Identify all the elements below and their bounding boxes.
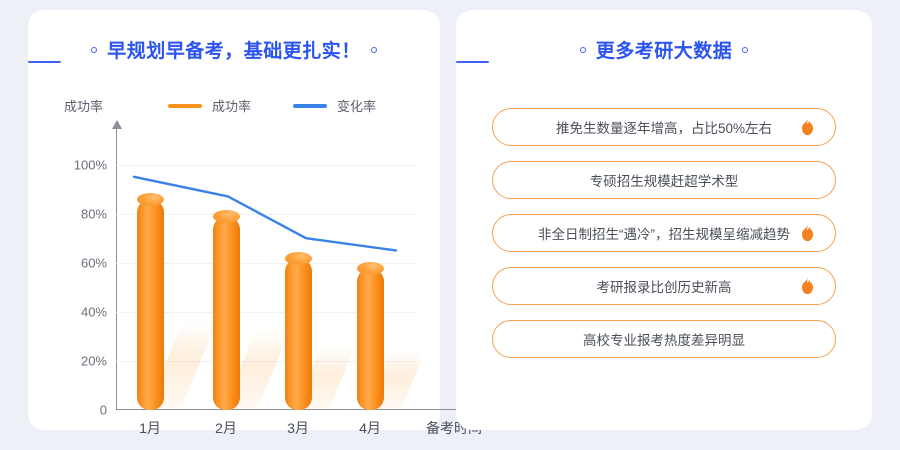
heading-decoration-left-icon bbox=[91, 47, 97, 53]
y-axis-tick-label: 40% bbox=[81, 304, 107, 319]
orange-line-swatch-icon bbox=[168, 104, 202, 108]
x-axis-tick-label: 1月 bbox=[139, 418, 161, 438]
flame-icon bbox=[800, 224, 815, 242]
preparation-success-chart: 100%80%60%40%20%01月2月3月4月备考时间 bbox=[56, 130, 440, 430]
y-axis-tick-label: 100% bbox=[74, 157, 107, 172]
legend-item-success-rate: 成功率 bbox=[168, 96, 251, 115]
list-item-label: 高校专业报考热度差异明显 bbox=[583, 329, 745, 349]
change-rate-line bbox=[116, 140, 420, 410]
gridline bbox=[116, 410, 416, 411]
legend-label-change-rate: 变化率 bbox=[337, 96, 376, 115]
list-item[interactable]: 推免生数量逐年增高，占比50%左右 bbox=[492, 108, 836, 146]
list-item-label: 推免生数量逐年增高，占比50%左右 bbox=[556, 117, 772, 137]
list-item-label: 非全日制招生“遇冷”，招生规模呈缩减趋势 bbox=[538, 223, 790, 243]
y-axis-tick-label: 80% bbox=[81, 206, 107, 221]
data-highlight-list: 推免生数量逐年增高，占比50%左右专硕招生规模赶超学术型非全日制招生“遇冷”，招… bbox=[492, 108, 836, 358]
legend-item-change-rate: 变化率 bbox=[293, 96, 376, 115]
list-item[interactable]: 专硕招生规模赶超学术型 bbox=[492, 161, 836, 199]
y-axis-tick-label: 20% bbox=[81, 353, 107, 368]
chart-panel: 早规划早备考，基础更扎实！ 成功率 成功率 变化率 100%80%60%40%2… bbox=[28, 10, 440, 430]
y-axis-title: 成功率 bbox=[64, 96, 103, 115]
chart-panel-title: 早规划早备考，基础更扎实！ bbox=[107, 36, 361, 63]
heading-decoration-right-icon bbox=[371, 47, 377, 53]
x-axis-tick-label: 2月 bbox=[215, 418, 237, 438]
x-axis-tick-label: 4月 bbox=[359, 418, 381, 438]
flame-icon bbox=[800, 277, 815, 295]
data-panel-title: 更多考研大数据 bbox=[596, 36, 733, 63]
heading-decoration-left-icon bbox=[580, 47, 586, 53]
list-item-label: 专硕招生规模赶超学术型 bbox=[590, 170, 739, 190]
legend-label-success-rate: 成功率 bbox=[212, 96, 251, 115]
page-root: 早规划早备考，基础更扎实！ 成功率 成功率 变化率 100%80%60%40%2… bbox=[0, 0, 900, 450]
heading-decoration-right-icon bbox=[742, 47, 748, 53]
chart-plot-area: 100%80%60%40%20%01月2月3月4月备考时间 bbox=[116, 140, 420, 410]
data-panel: 更多考研大数据 推免生数量逐年增高，占比50%左右专硕招生规模赶超学术型非全日制… bbox=[456, 10, 872, 430]
list-item[interactable]: 非全日制招生“遇冷”，招生规模呈缩减趋势 bbox=[492, 214, 836, 252]
blue-line-swatch-icon bbox=[293, 104, 327, 108]
list-item[interactable]: 考研报录比创历史新高 bbox=[492, 267, 836, 305]
chart-legend: 成功率 变化率 bbox=[168, 96, 376, 115]
list-item[interactable]: 高校专业报考热度差异明显 bbox=[492, 320, 836, 358]
list-item-label: 考研报录比创历史新高 bbox=[597, 276, 732, 296]
flame-icon bbox=[800, 118, 815, 136]
y-axis-tick-label: 0 bbox=[100, 403, 107, 418]
chart-panel-heading: 早规划早备考，基础更扎实！ bbox=[28, 36, 440, 63]
x-axis-tick-label: 3月 bbox=[287, 418, 309, 438]
data-panel-heading: 更多考研大数据 bbox=[456, 36, 872, 63]
y-axis-tick-label: 60% bbox=[81, 255, 107, 270]
